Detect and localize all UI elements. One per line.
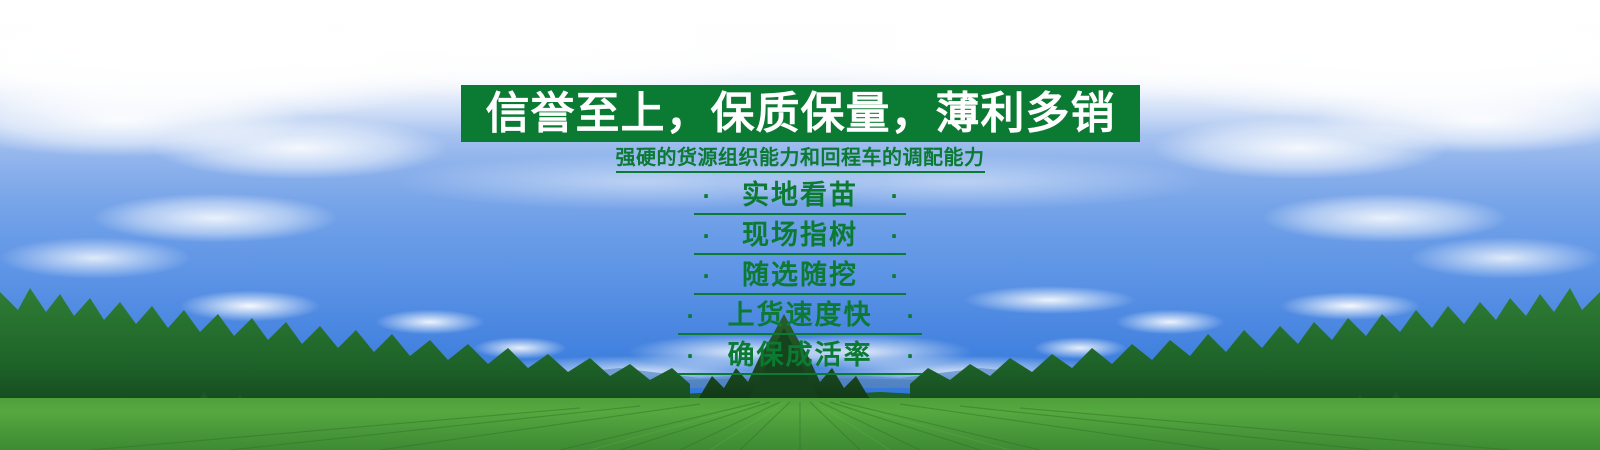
- feature-label: 确保成活率: [702, 341, 898, 371]
- banner-text-content: 信誉至上，保质保量，薄利多销 强硬的货源组织能力和回程车的调配能力 · 实地看苗…: [0, 0, 1600, 450]
- feature-item: · 现场指树 ·: [694, 220, 906, 255]
- feature-label: 随选随挖: [718, 261, 882, 291]
- feature-item: · 随选随挖 ·: [694, 260, 906, 295]
- bullet-dot-left-icon: ·: [694, 186, 718, 206]
- bullet-dot-right-icon: ·: [898, 306, 922, 326]
- bullet-dot-right-icon: ·: [898, 346, 922, 366]
- headline-text: 信誉至上，保质保量，薄利多销: [486, 92, 1116, 136]
- feature-label: 上货速度快: [702, 301, 898, 331]
- feature-label: 现场指树: [718, 221, 882, 251]
- subtitle-row: 强硬的货源组织能力和回程车的调配能力: [0, 146, 1600, 173]
- bullet-dot-left-icon: ·: [678, 306, 702, 326]
- bullet-dot-right-icon: ·: [882, 266, 906, 286]
- bullet-dot-left-icon: ·: [694, 266, 718, 286]
- bullet-dot-right-icon: ·: [882, 186, 906, 206]
- subtitle-text: 强硬的货源组织能力和回程车的调配能力: [616, 146, 985, 173]
- bullet-dot-left-icon: ·: [694, 226, 718, 246]
- bullet-dot-left-icon: ·: [678, 346, 702, 366]
- promo-banner: 信誉至上，保质保量，薄利多销 强硬的货源组织能力和回程车的调配能力 · 实地看苗…: [0, 0, 1600, 450]
- feature-item: · 实地看苗 ·: [694, 180, 906, 215]
- feature-item: · 上货速度快 ·: [678, 300, 922, 335]
- feature-item: · 确保成活率 ·: [678, 340, 922, 375]
- headline-bar: 信誉至上，保质保量，薄利多销: [461, 85, 1140, 142]
- feature-list: · 实地看苗 · · 现场指树 · · 随选随挖 · · 上货速度快 · ·: [0, 180, 1600, 380]
- bullet-dot-right-icon: ·: [882, 226, 906, 246]
- feature-label: 实地看苗: [718, 181, 882, 211]
